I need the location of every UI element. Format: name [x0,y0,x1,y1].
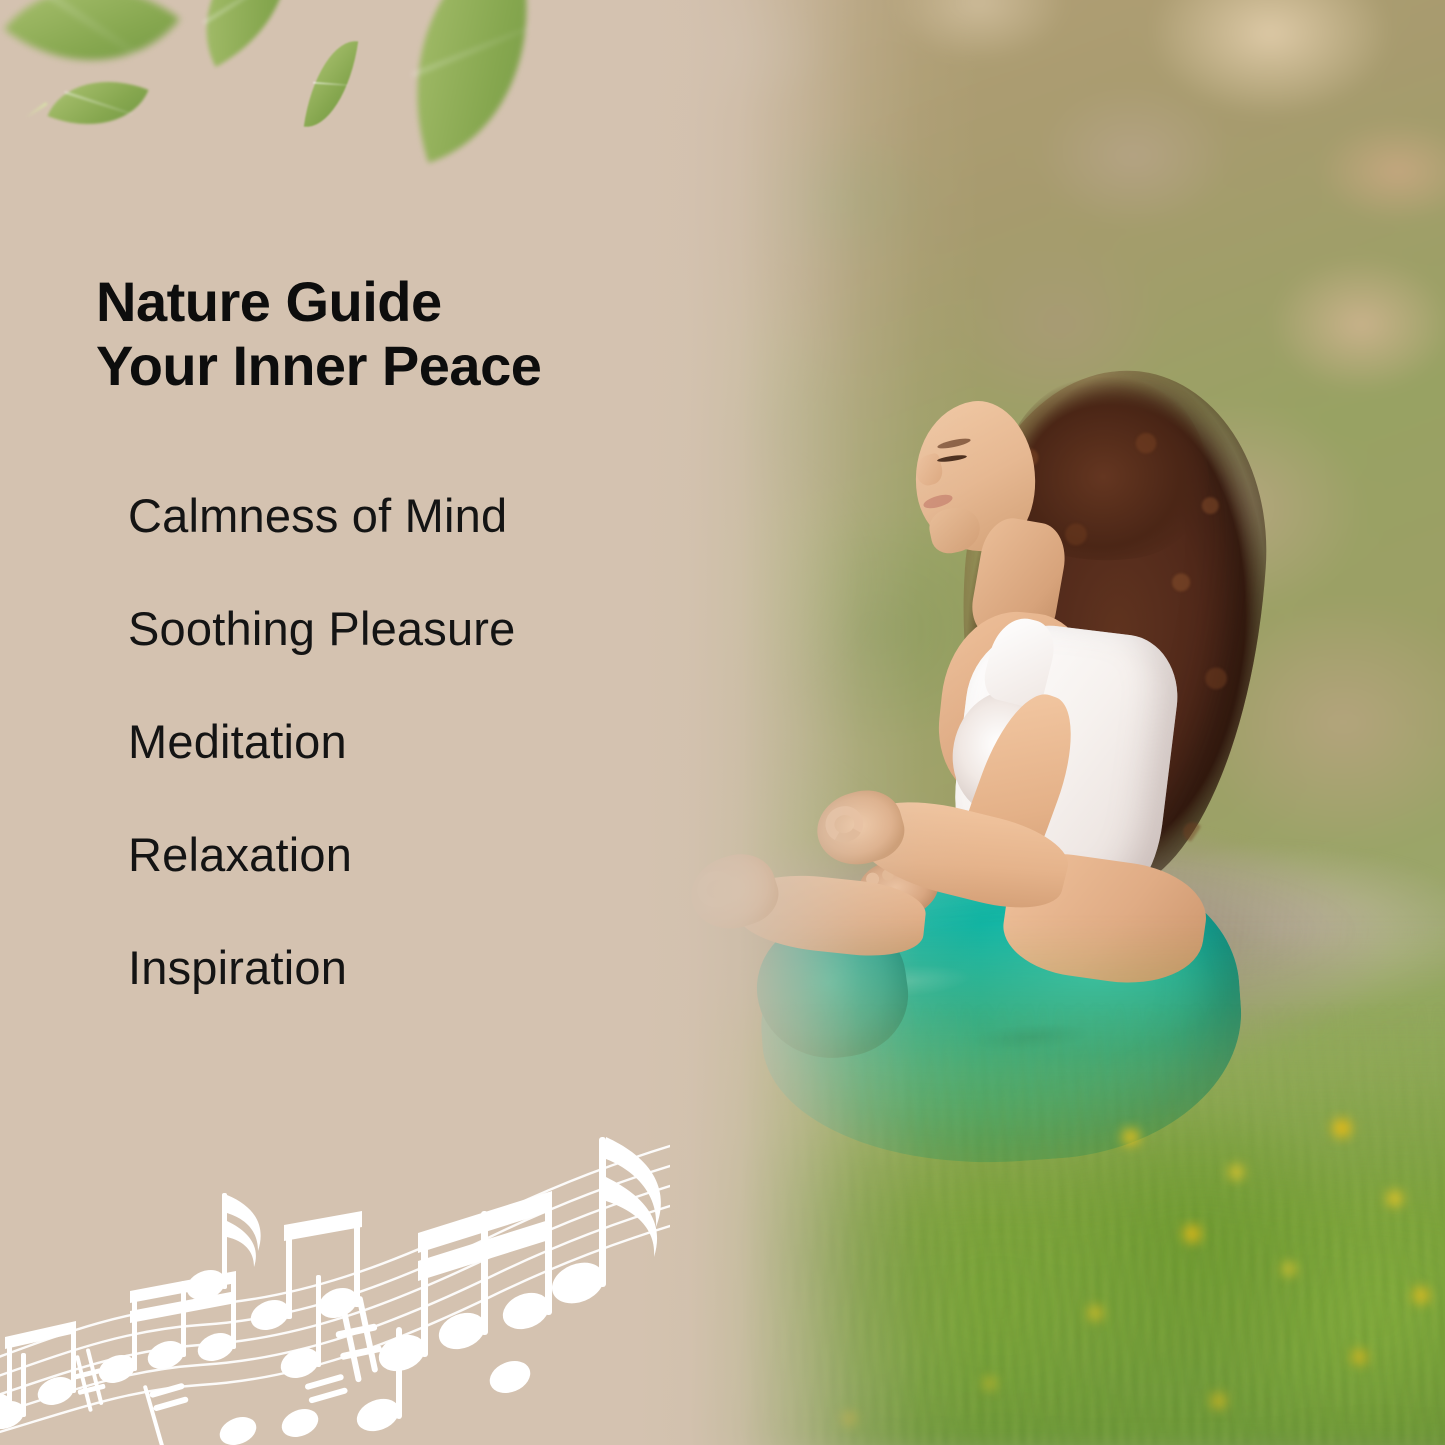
text-panel: Nature Guide Your Inner Peace Calmness o… [0,0,700,1445]
list-item: Relaxation [128,831,658,878]
meditating-woman-photo [585,0,1445,1445]
list-item: Calmness of Mind [128,492,658,539]
list-item: Meditation [128,718,658,765]
list-item: Soothing Pleasure [128,605,658,652]
list-item: Inspiration [128,944,658,991]
falling-leaf-icon [171,0,324,67]
benefits-list: Calmness of Mind Soothing Pleasure Medit… [128,492,658,991]
photo-left-fade [585,0,1445,1445]
poster-canvas: Nature Guide Your Inner Peace Calmness o… [0,0,1445,1445]
music-notes-icon [0,1115,670,1445]
falling-leaf-icon [304,36,358,133]
falling-leaf-icon [371,0,573,163]
page-title: Nature Guide Your Inner Peace [96,270,656,400]
